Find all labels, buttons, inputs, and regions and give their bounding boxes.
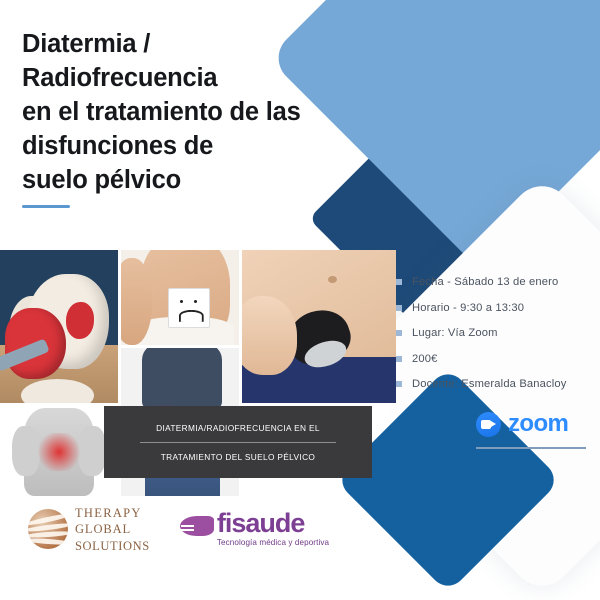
title-line-5: suelo pélvico	[22, 166, 181, 194]
title-line-4: disfunciones de	[22, 132, 213, 160]
zoom-camera-icon	[476, 412, 501, 437]
event-details-list: Fecha - Sábado 13 de enero Horario - 9:3…	[396, 276, 567, 404]
photo-abdomen-sad-face-card	[121, 250, 239, 345]
list-item: Docente: Esmeralda Banacloy	[396, 378, 567, 390]
detail-schedule: Horario - 9:30 a 13:30	[412, 302, 524, 314]
zoom-logo: zoom	[476, 410, 568, 438]
list-item: 200€	[396, 353, 567, 365]
fisaude-logo-text: fisaude Tecnología médica y deportiva	[217, 512, 329, 547]
title-heading: Diatermia / Radiofrecuencia en el tratam…	[22, 28, 352, 198]
detail-instructor: Docente: Esmeralda Banacloy	[412, 378, 567, 390]
title-line-3: en el tratamiento de las	[22, 98, 301, 126]
zoom-underline-rule	[476, 447, 586, 449]
list-item: Fecha - Sábado 13 de enero	[396, 276, 567, 288]
therapy-swirl-icon	[28, 509, 68, 549]
page-title: Diatermia / Radiofrecuencia en el tratam…	[22, 28, 352, 208]
therapy-global-solutions-logo: THERAPY GLOBAL SOLUTIONS	[28, 505, 150, 554]
photo-diathermy-treatment	[242, 250, 396, 403]
fisaude-tagline: Tecnología médica y deportiva	[217, 538, 329, 547]
banner-line-2: TRATAMIENTO DEL SUELO PÉLVICO	[155, 452, 321, 462]
zoom-wordmark: zoom	[508, 410, 568, 438]
therapy-line-3: SOLUTIONS	[75, 539, 150, 553]
therapy-logo-text: THERAPY GLOBAL SOLUTIONS	[75, 505, 150, 554]
photo-lower-back-pain	[0, 406, 118, 496]
square-bullet-icon	[396, 279, 402, 285]
square-bullet-icon	[396, 305, 402, 311]
list-item: Lugar: Vía Zoom	[396, 327, 567, 339]
square-bullet-icon	[396, 356, 402, 362]
course-caption-banner: DIATERMIA/RADIOFRECUENCIA EN EL TRATAMIE…	[104, 406, 372, 478]
square-bullet-icon	[396, 381, 402, 387]
promo-poster: Diatermia / Radiofrecuencia en el tratam…	[0, 0, 600, 600]
partner-logos: THERAPY GLOBAL SOLUTIONS fisaude Tecnolo…	[28, 505, 329, 554]
banner-divider	[140, 442, 336, 443]
banner-line-1: DIATERMIA/RADIOFRECUENCIA EN EL	[150, 423, 326, 433]
title-line-2: Radiofrecuencia	[22, 64, 217, 92]
therapy-line-1: THERAPY	[75, 506, 142, 520]
fisaude-logo: fisaude Tecnología médica y deportiva	[180, 512, 329, 547]
detail-location: Lugar: Vía Zoom	[412, 327, 498, 339]
detail-date: Fecha - Sábado 13 de enero	[412, 276, 558, 288]
therapy-line-2: GLOBAL	[75, 522, 131, 536]
photo-pelvic-anatomy-model	[0, 250, 118, 403]
detail-price: 200€	[412, 353, 438, 365]
title-underline-accent	[22, 205, 70, 208]
fisaude-name: fisaude	[217, 512, 329, 535]
list-item: Horario - 9:30 a 13:30	[396, 302, 567, 314]
square-bullet-icon	[396, 330, 402, 336]
fisaude-swoosh-icon	[180, 512, 214, 540]
title-line-1: Diatermia /	[22, 30, 150, 58]
